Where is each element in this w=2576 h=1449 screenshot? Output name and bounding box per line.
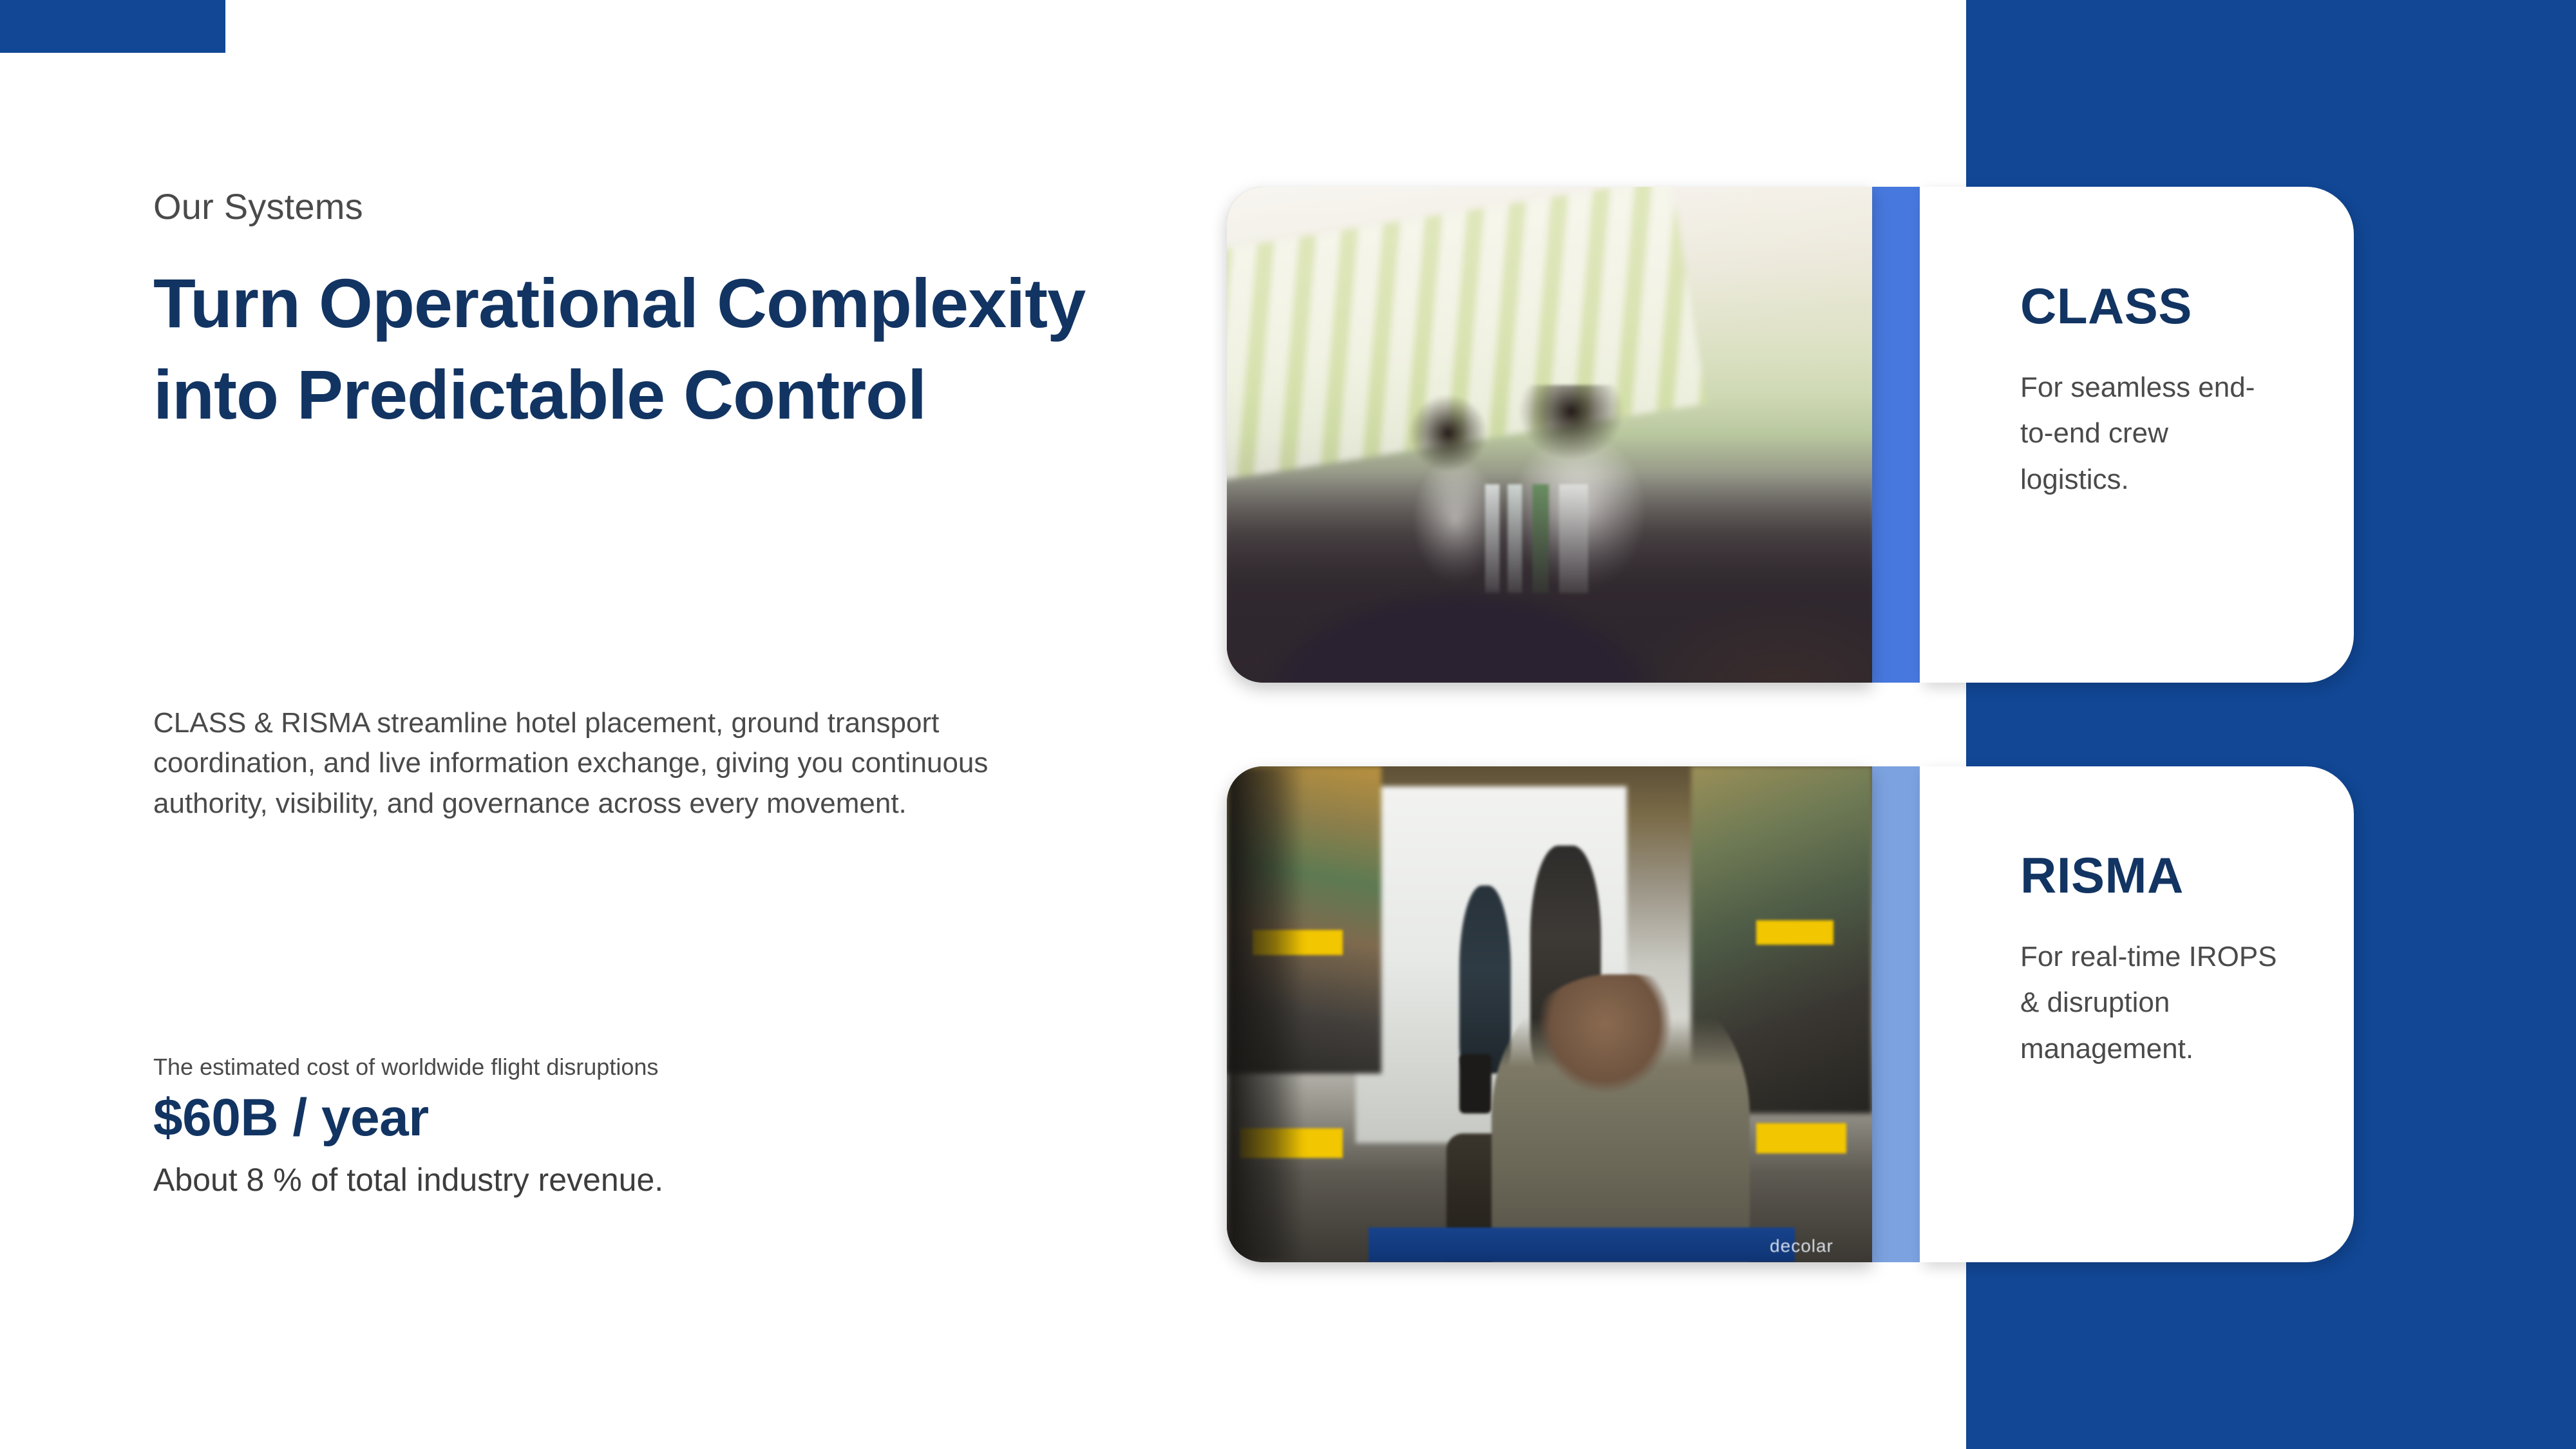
jetway-foreground-passenger xyxy=(1492,974,1750,1262)
class-accent-bar xyxy=(1872,187,1920,683)
risma-accent-bar xyxy=(1872,766,1920,1262)
class-description: For seamless end-to-end crew logistics. xyxy=(2020,365,2278,502)
jetway-yellow-stripe xyxy=(1756,920,1833,945)
stat-note: About 8 % of total industry revenue. xyxy=(153,1160,990,1200)
page-title: Turn Operational Complexity into Predict… xyxy=(153,258,1100,441)
left-content-column: Our Systems Turn Operational Complexity … xyxy=(153,187,1119,441)
jetway-walking-passenger xyxy=(1459,885,1511,1074)
system-card-risma[interactable]: decolar RISMA For real-time IROPS & disr… xyxy=(1227,766,2354,1262)
class-title: CLASS xyxy=(2020,281,2354,331)
cabin-trolley-items xyxy=(1485,484,1588,593)
class-photo xyxy=(1227,187,1872,683)
top-left-accent-block xyxy=(0,0,225,53)
slide-root: Our Systems Turn Operational Complexity … xyxy=(0,0,2576,1449)
jetway-foreground-shadow xyxy=(1227,766,1304,1262)
cabin-photo-art xyxy=(1227,187,1872,683)
jetway-yellow-stripe xyxy=(1756,1123,1846,1153)
stat-value: $60B / year xyxy=(153,1088,990,1148)
jetway-advert-banner xyxy=(1368,1227,1794,1262)
eyebrow-label: Our Systems xyxy=(153,187,1119,227)
risma-card-body: RISMA For real-time IROPS & disruption m… xyxy=(1920,766,2354,1262)
risma-title: RISMA xyxy=(2020,850,2354,900)
stat-label: The estimated cost of worldwide flight d… xyxy=(153,1052,990,1083)
jetway-advert-banner-text: decolar xyxy=(1770,1236,1833,1256)
system-card-class[interactable]: CLASS For seamless end-to-end crew logis… xyxy=(1227,187,2354,683)
stat-block: The estimated cost of worldwide flight d… xyxy=(153,1052,990,1200)
cabin-crew-figures xyxy=(1368,385,1730,603)
class-card-body: CLASS For seamless end-to-end crew logis… xyxy=(1920,187,2354,683)
risma-photo: decolar xyxy=(1227,766,1872,1262)
jetway-photo-art: decolar xyxy=(1227,766,1872,1262)
risma-description: For real-time IROPS & disruption managem… xyxy=(2020,934,2278,1072)
jetway-rolling-suitcase xyxy=(1459,1054,1492,1113)
body-paragraph: CLASS & RISMA streamline hotel placement… xyxy=(153,703,1074,824)
